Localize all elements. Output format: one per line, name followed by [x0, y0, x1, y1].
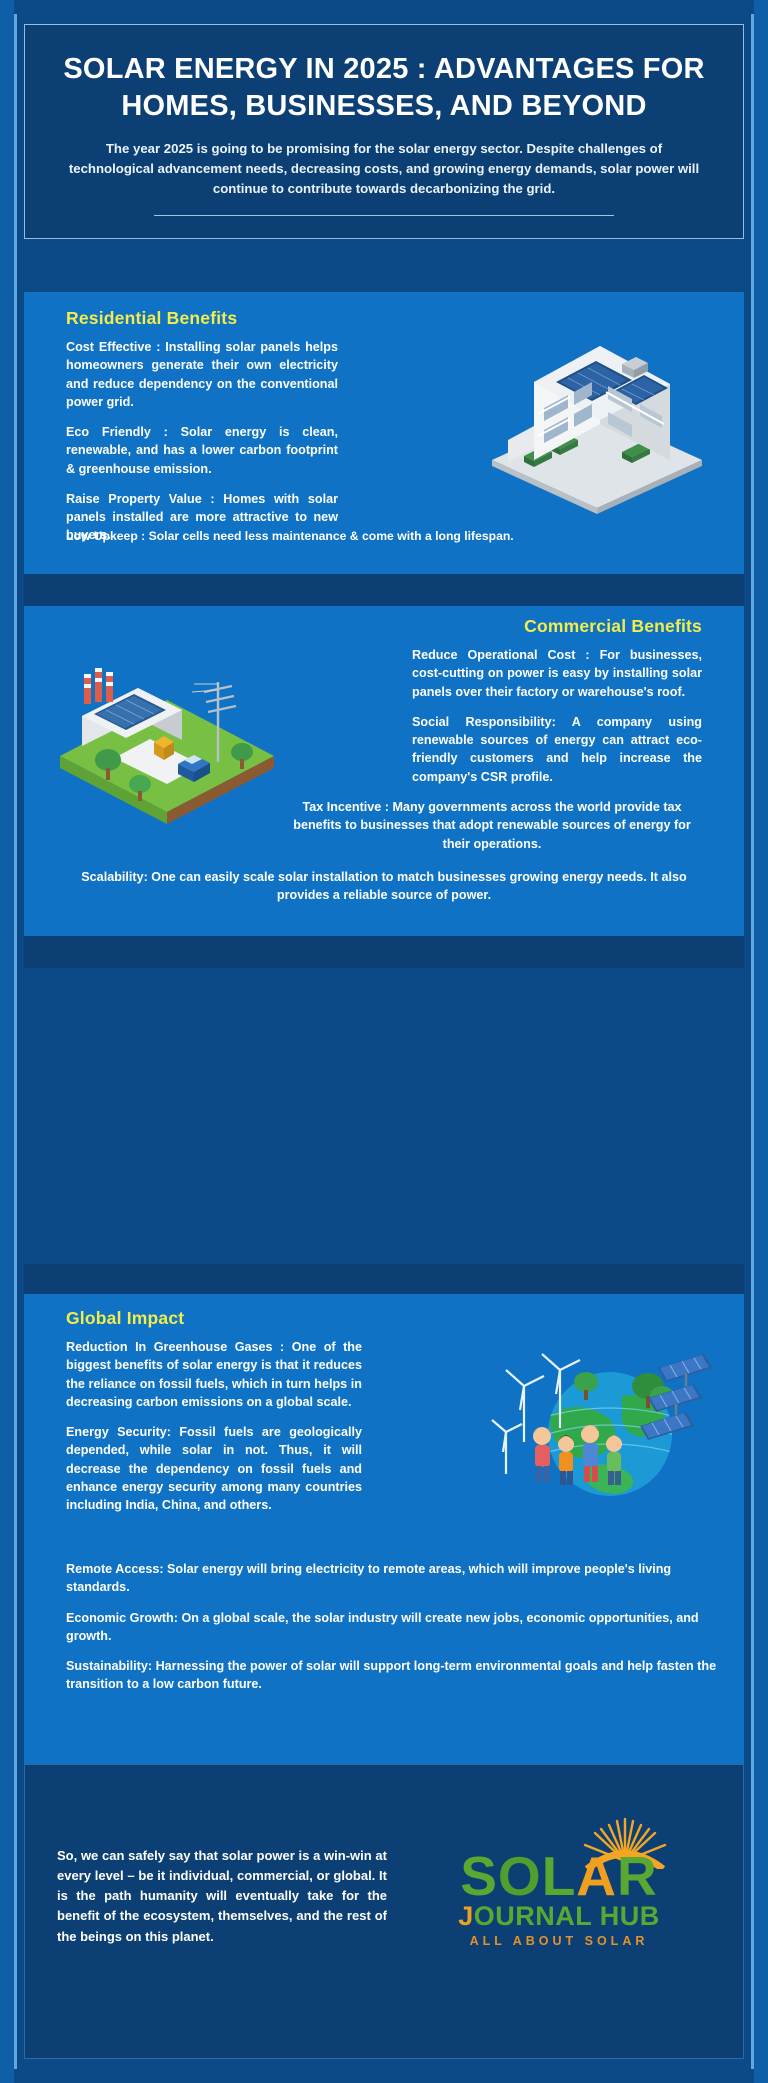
- left-edge-strip: [0, 0, 14, 2083]
- residential-text-column: Cost Effective : Installing solar panels…: [66, 338, 338, 545]
- brand-logo[interactable]: SOLAR JOURNAL HUB ALL ABOUT SOLAR: [409, 1849, 709, 1948]
- residential-building-illustration: [472, 320, 722, 518]
- footer-panel: So, we can safely say that solar power i…: [24, 1764, 744, 2059]
- global-item-1: Reduction In Greenhouse Gases : One of t…: [66, 1338, 362, 1411]
- header-subtitle: The year 2025 is going to be promising f…: [67, 139, 701, 199]
- commercial-mid-row: Tax Incentive : Many governments across …: [282, 798, 702, 853]
- global-wide-rows: Remote Access: Solar energy will bring e…: [66, 1560, 721, 1694]
- commercial-item-4: Scalability: One can easily scale solar …: [54, 868, 714, 905]
- global-item-5: Sustainability: Harnessing the power of …: [66, 1657, 721, 1694]
- residential-wide-row: Low Upkeep : Solar cells need less maint…: [66, 528, 726, 546]
- logo-letter-l: L: [542, 1845, 577, 1907]
- commercial-item-3: Tax Incentive : Many governments across …: [282, 798, 702, 853]
- residential-item-2: Eco Friendly : Solar energy is clean, re…: [66, 423, 338, 478]
- section-title-residential: Residential Benefits: [66, 308, 237, 329]
- global-item-3: Remote Access: Solar energy will bring e…: [66, 1560, 721, 1597]
- section-title-commercial: Commercial Benefits: [524, 616, 702, 637]
- section-divider-3: [24, 1264, 744, 1294]
- header-panel: SOLAR ENERGY IN 2025 : ADVANTAGES FOR HO…: [24, 24, 744, 239]
- logo-wordmark-solar: SOLAR: [409, 1849, 709, 1904]
- infographic-poster: SOLAR ENERGY IN 2025 : ADVANTAGES FOR HO…: [0, 0, 768, 2083]
- right-edge-strip: [754, 0, 768, 2083]
- residential-item-1: Cost Effective : Installing solar panels…: [66, 338, 338, 411]
- header-divider: [154, 215, 614, 216]
- logo-letter-o: O: [498, 1845, 542, 1907]
- logo-letter-r: R: [617, 1845, 658, 1907]
- global-text-column: Reduction In Greenhouse Gases : One of t…: [66, 1338, 362, 1514]
- global-earth-illustration: [490, 1324, 718, 1502]
- commercial-item-2: Social Responsibility: A company using r…: [412, 713, 702, 786]
- logo-letter-a: A: [576, 1845, 617, 1907]
- global-item-4: Economic Growth: On a global scale, the …: [66, 1609, 721, 1646]
- section-residential: Residential Benefits Cost Effective : In…: [24, 292, 744, 574]
- page-title: SOLAR ENERGY IN 2025 : ADVANTAGES FOR HO…: [59, 51, 709, 125]
- commercial-factory-illustration: [42, 634, 292, 824]
- footer-conclusion-text: So, we can safely say that solar power i…: [57, 1846, 387, 1947]
- commercial-item-1: Reduce Operational Cost : For businesses…: [412, 646, 702, 701]
- global-item-2: Energy Security: Fossil fuels are geolog…: [66, 1423, 362, 1514]
- section-divider-2: [24, 936, 744, 968]
- residential-item-4: Low Upkeep : Solar cells need less maint…: [66, 528, 726, 546]
- section-commercial: Commercial Benefits Reduce Operational C…: [24, 606, 744, 936]
- logo-tagline: ALL ABOUT SOLAR: [409, 1934, 709, 1948]
- commercial-text-column: Reduce Operational Cost : For businesses…: [412, 646, 702, 786]
- commercial-wide-row: Scalability: One can easily scale solar …: [54, 868, 714, 905]
- section-global: Global Impact Reduction In Greenhouse Ga…: [24, 1294, 744, 1764]
- section-title-global: Global Impact: [66, 1308, 184, 1329]
- section-divider-1: [24, 574, 744, 606]
- logo-letter-s: S: [460, 1845, 498, 1907]
